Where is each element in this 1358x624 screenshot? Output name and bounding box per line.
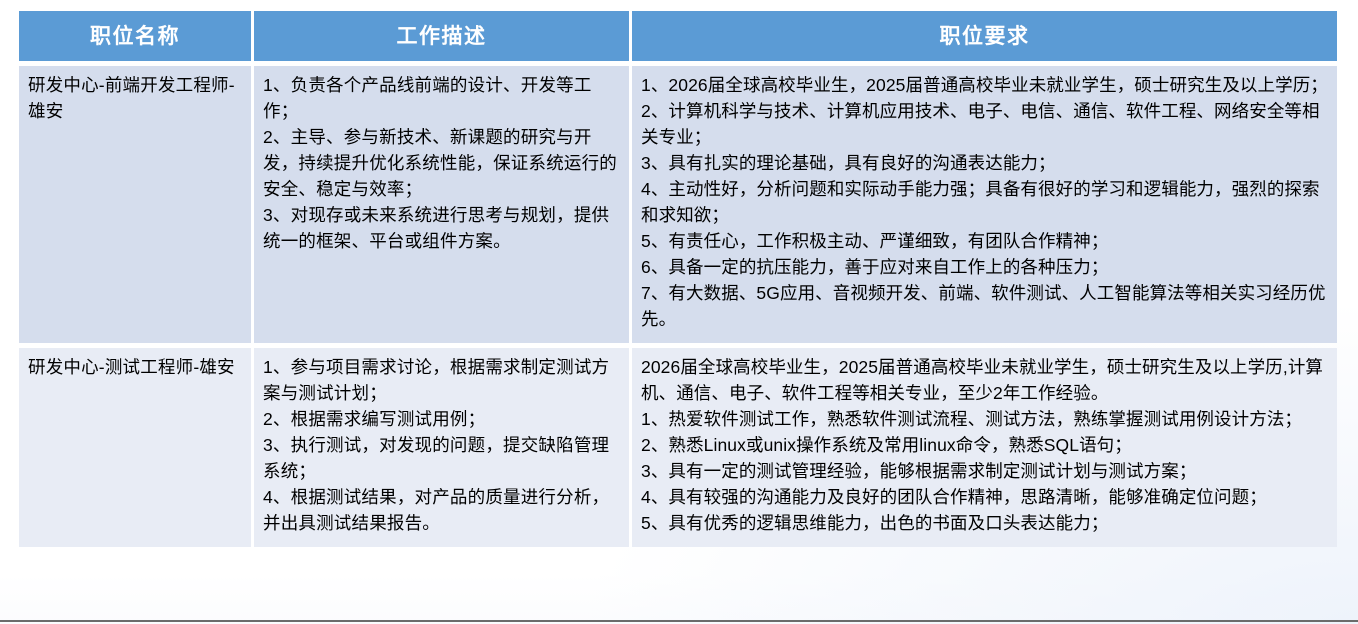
table-header: 职位名称 工作描述 职位要求 (19, 11, 1337, 61)
cell-job-title: 研发中心-前端开发工程师-雄安 (19, 66, 251, 343)
column-header-job-description: 工作描述 (254, 11, 629, 61)
cell-job-description: 1、负责各个产品线前端的设计、开发等工作； 2、主导、参与新技术、新课题的研究与… (254, 66, 629, 343)
job-listing-table: 职位名称 工作描述 职位要求 研发中心-前端开发工程师-雄安 1、负责各个产品线… (16, 6, 1340, 552)
column-header-job-title: 职位名称 (19, 11, 251, 61)
cell-job-description: 1、参与项目需求讨论，根据需求制定测试方案与测试计划； 2、根据需求编写测试用例… (254, 348, 629, 547)
table-row: 研发中心-前端开发工程师-雄安 1、负责各个产品线前端的设计、开发等工作； 2、… (19, 66, 1337, 343)
table-row: 研发中心-测试工程师-雄安 1、参与项目需求讨论，根据需求制定测试方案与测试计划… (19, 348, 1337, 547)
page-bottom-divider (0, 620, 1358, 622)
table-body: 研发中心-前端开发工程师-雄安 1、负责各个产品线前端的设计、开发等工作； 2、… (19, 66, 1337, 547)
cell-job-requirements: 2026届全球高校毕业生，2025届普通高校毕业未就业学生，硕士研究生及以上学历… (632, 348, 1337, 547)
cell-job-title: 研发中心-测试工程师-雄安 (19, 348, 251, 547)
cell-job-requirements: 1、2026届全球高校毕业生，2025届普通高校毕业未就业学生，硕士研究生及以上… (632, 66, 1337, 343)
job-listing-table-container: 职位名称 工作描述 职位要求 研发中心-前端开发工程师-雄安 1、负责各个产品线… (16, 6, 1340, 552)
table-header-row: 职位名称 工作描述 职位要求 (19, 11, 1337, 61)
column-header-job-requirements: 职位要求 (632, 11, 1337, 61)
